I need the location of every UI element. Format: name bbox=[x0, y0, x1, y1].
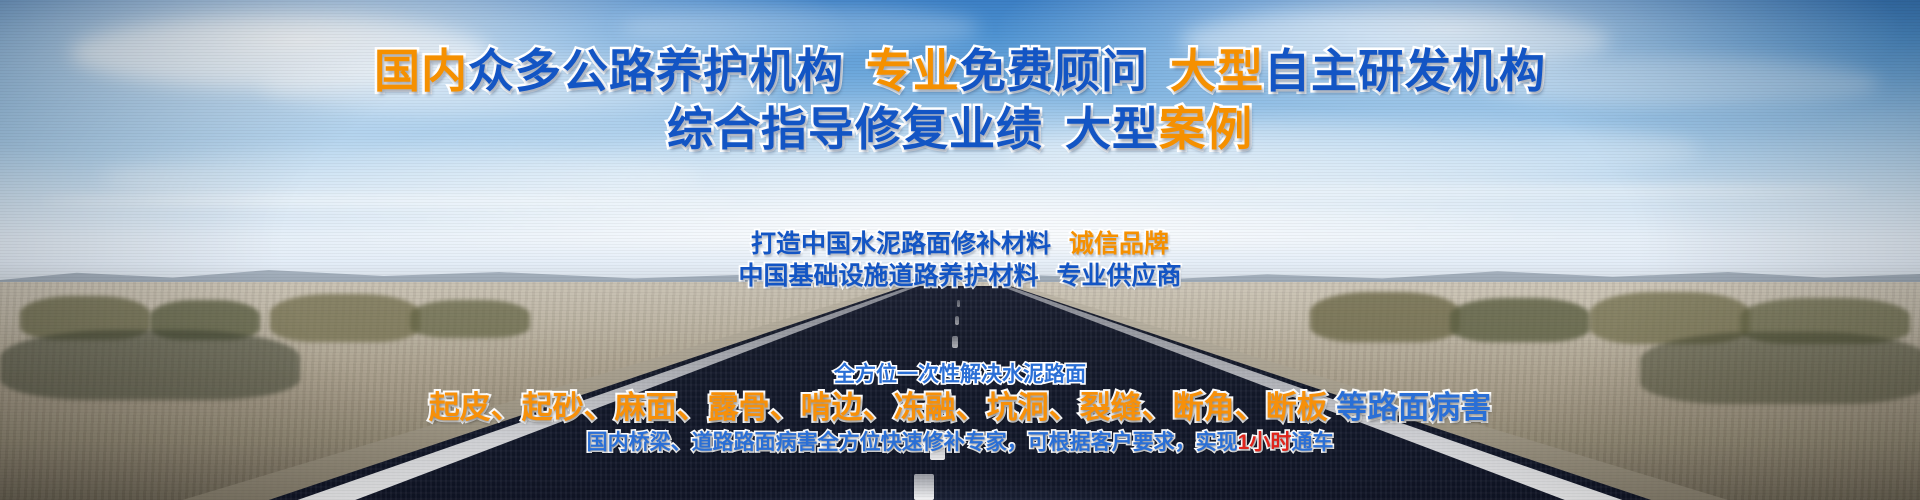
text-run: 自主研发机构 bbox=[1264, 45, 1546, 97]
text-run: 等路面病害 bbox=[1328, 390, 1492, 425]
lane-dash bbox=[952, 336, 958, 348]
text-run: 专业 bbox=[866, 45, 960, 97]
cloud-streak bbox=[40, 196, 740, 206]
text-run: 免费顾问 bbox=[960, 45, 1148, 97]
lane-dash bbox=[957, 300, 960, 307]
closing-claim: 国内桥梁、道路路面病害全方位快速修补专家，可根据客户要求，实现1小时通车 bbox=[0, 428, 1920, 458]
text-run: 国内桥梁、道路路面病害全方位快速修补专家，可根据客户要求，实现 bbox=[587, 431, 1238, 454]
headline-block: 国内众多公路养护机构专业免费顾问大型自主研发机构 综合指导修复业绩大型案例 bbox=[0, 42, 1920, 158]
text-run: 众多公路养护机构 bbox=[468, 45, 844, 97]
text-run: 国内 bbox=[374, 45, 468, 97]
text-run: 诚信品牌 bbox=[1069, 230, 1169, 258]
text-run: 专业供应商 bbox=[1057, 262, 1182, 290]
text-run: 起皮、起砂、麻面、露骨、啃边、冻融、坑洞、裂缝、断角、断板 bbox=[429, 390, 1328, 425]
text-run: 大型 bbox=[1065, 103, 1159, 155]
text-run: 打造中国水泥路面修补材料 bbox=[751, 230, 1051, 258]
text-run: 综合指导修复业绩 bbox=[667, 103, 1043, 155]
text-run: 1小时 bbox=[1238, 431, 1292, 454]
roadside-brush bbox=[270, 294, 420, 342]
bottom-tagline: 全方位一次性解决水泥路面 bbox=[0, 362, 1920, 388]
roadside-brush bbox=[1310, 292, 1460, 342]
text-run: 通车 bbox=[1291, 431, 1333, 454]
bottom-copy-block: 全方位一次性解决水泥路面 起皮、起砂、麻面、露骨、啃边、冻融、坑洞、裂缝、断角、… bbox=[0, 362, 1920, 458]
text-run: 大型 bbox=[1170, 45, 1264, 97]
defect-list: 起皮、起砂、麻面、露骨、啃边、冻融、坑洞、裂缝、断角、断板 等路面病害 bbox=[0, 388, 1920, 428]
text-run: 中国基础设施道路养护材料 bbox=[738, 262, 1038, 290]
headline-line-1: 国内众多公路养护机构专业免费顾问大型自主研发机构 bbox=[0, 42, 1920, 100]
lane-dash bbox=[914, 474, 934, 500]
subheading-line-1: 打造中国水泥路面修补材料诚信品牌 bbox=[0, 228, 1920, 260]
subheading-line-2: 中国基础设施道路养护材料专业供应商 bbox=[0, 260, 1920, 292]
subheading-block: 打造中国水泥路面修补材料诚信品牌 中国基础设施道路养护材料专业供应商 bbox=[0, 228, 1920, 292]
lane-dash bbox=[955, 316, 959, 325]
roadside-brush bbox=[1450, 298, 1590, 342]
promotional-banner: 国内众多公路养护机构专业免费顾问大型自主研发机构 综合指导修复业绩大型案例 打造… bbox=[0, 0, 1920, 500]
roadside-brush bbox=[410, 300, 530, 338]
cloud-streak bbox=[1150, 186, 1870, 196]
headline-line-2: 综合指导修复业绩大型案例 bbox=[0, 100, 1920, 158]
cloud-streak bbox=[420, 214, 1520, 224]
text-run: 案例 bbox=[1159, 103, 1253, 155]
